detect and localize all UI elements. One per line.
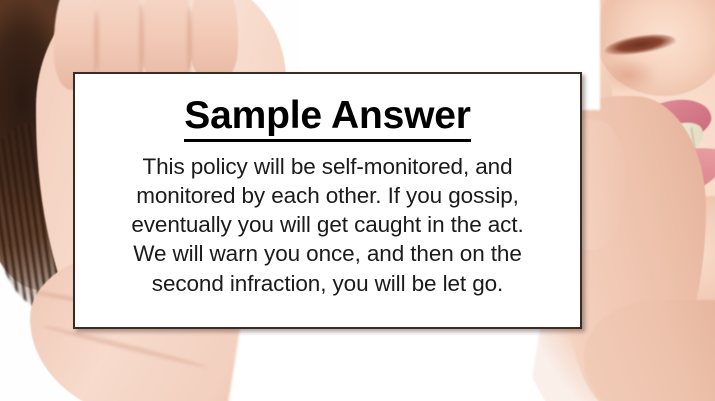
card-title: Sample Answer	[184, 94, 470, 142]
answer-card: Sample Answer This policy will be self-m…	[73, 72, 582, 329]
card-body: This policy will be self-monitored, and …	[97, 152, 558, 298]
body-line-1: This policy will be self-monitored, and	[97, 152, 558, 181]
finger-separation	[94, 10, 99, 80]
body-line-5: second infraction, you will be let go.	[97, 269, 558, 298]
slide-canvas: Sample Answer This policy will be self-m…	[0, 0, 715, 401]
body-line-3: eventually you will get caught in the ac…	[97, 210, 558, 239]
body-line-2: monitored by each other. If you gossip,	[97, 181, 558, 210]
body-line-4: We will warn you once, and then on the	[97, 239, 558, 268]
finger-separation	[187, 8, 192, 80]
left-hand-finger	[190, 0, 238, 82]
